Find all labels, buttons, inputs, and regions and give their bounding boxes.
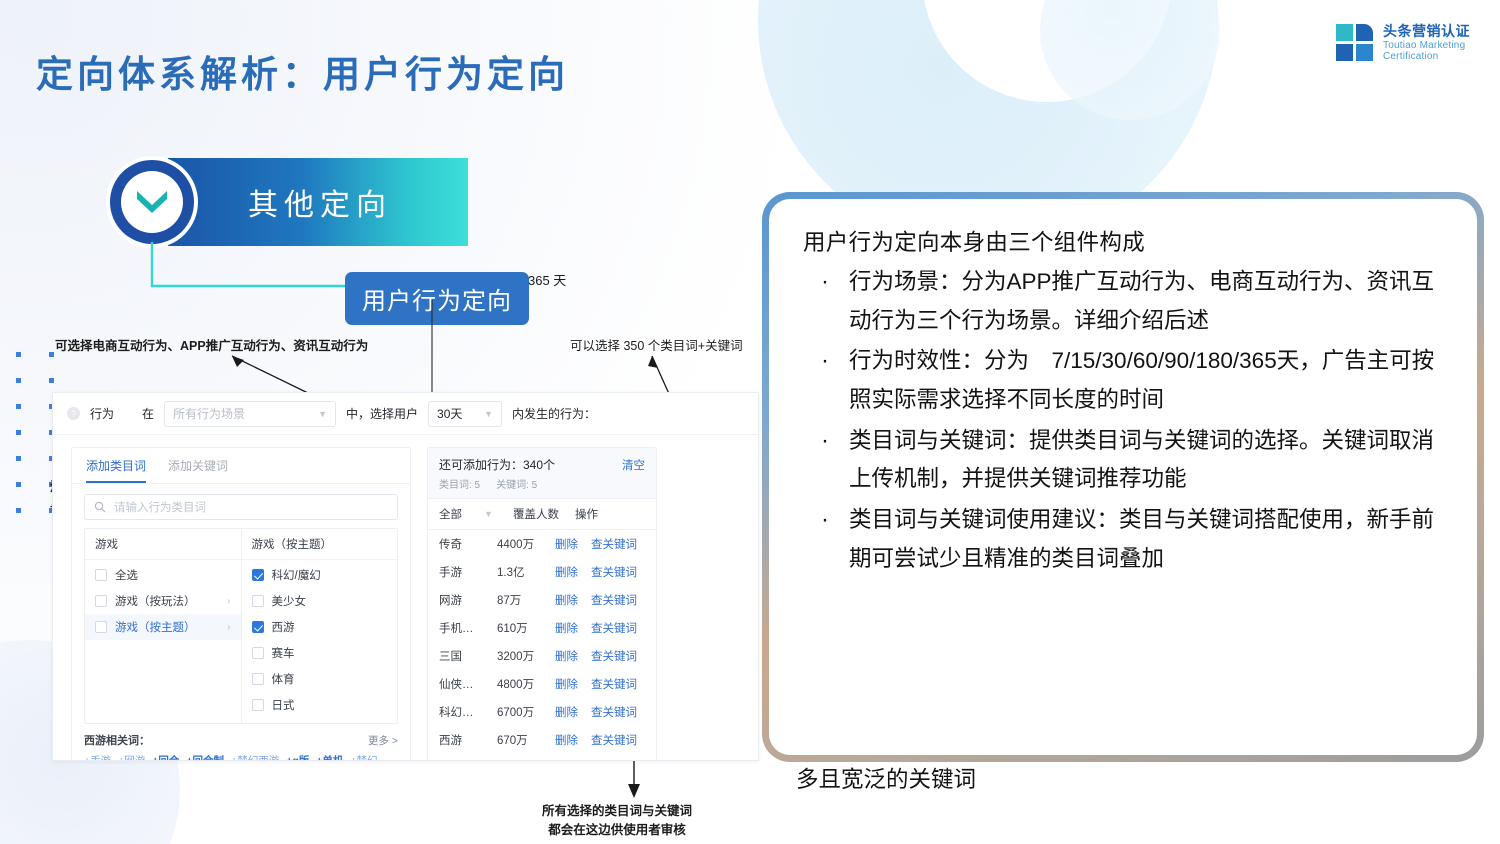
row-reach: 1.3亿 [497, 564, 555, 580]
category-column-left: 游戏 全选游戏（按玩法）›游戏（按主题）› [85, 529, 242, 723]
explanation-panel: 用户行为定向本身由三个组件构成 行为场景：分为APP推广互动行为、电商互动行为、… [762, 192, 1484, 762]
row-name: 网游 [439, 592, 497, 608]
category-column-right: 游戏（按主题） 科幻/魔幻美少女西游赛车体育日式 [242, 529, 398, 723]
table-row: 三国3200万删除查关键词 [428, 642, 656, 670]
explanation-bullet-list: 行为场景：分为APP推广互动行为、电商互动行为、资讯互动行为三个行为场景。详细介… [803, 263, 1447, 579]
option-label: 游戏（按主题） [115, 619, 196, 635]
count-keyword: 关键词: 5 [496, 476, 537, 491]
column-action: 操作 [575, 506, 598, 522]
row-view-keyword-link[interactable]: 查关键词 [591, 620, 637, 636]
decorative-dot-grid-left [16, 352, 54, 534]
days-select-value: 30天 [437, 405, 462, 422]
product-screenshot: ? 行为 在 所有行为场景 ▼ 中，选择用户 30天 ▼ 内发生的行为： 添加类… [52, 392, 759, 761]
explanation-lead: 用户行为定向本身由三个组件构成 [803, 225, 1447, 257]
search-row: 请输入行为类目词 [72, 484, 410, 528]
mid-label: 中，选择用户 [346, 405, 418, 422]
chevron-right-icon: › [227, 596, 230, 607]
explanation-overflow-line: 多且宽泛的关键词 [796, 762, 976, 794]
decorative-dot [16, 430, 21, 435]
selected-table-header: 全部 ▼ 覆盖人数 操作 [428, 499, 656, 530]
related-words-section: 西游相关词： 更多 > +手游+网游+回合+回合制+梦幻西游+q版+单机+梦幻 [72, 724, 410, 761]
row-delete-link[interactable]: 删除 [555, 676, 578, 692]
chevron-down-icon: ▼ [484, 409, 493, 419]
search-placeholder: 请输入行为类目词 [114, 499, 206, 515]
row-view-keyword-link[interactable]: 查关键词 [591, 704, 637, 720]
row-reach: 3200万 [497, 648, 555, 664]
theme-option[interactable]: 日式 [242, 692, 398, 718]
theme-option[interactable]: 体育 [242, 666, 398, 692]
option-label: 西游 [272, 619, 295, 635]
row-view-keyword-link[interactable]: 查关键词 [591, 676, 637, 692]
explanation-bullet: 类目词与关键词：提供类目词与关键词的选择。关键词取消上传机制，并提供关键词推荐功… [803, 422, 1447, 499]
decorative-circle-small [1040, 0, 1220, 120]
row-view-keyword-link[interactable]: 查关键词 [591, 564, 637, 580]
related-word-chip[interactable]: +单机 [316, 753, 343, 761]
days-select[interactable]: 30天 ▼ [428, 401, 502, 427]
related-words-title: 西游相关词： [84, 732, 150, 748]
related-word-chip[interactable]: +q版 [286, 753, 309, 761]
annotation-365-days: 365 天 [528, 272, 566, 291]
related-word-chip[interactable]: +回合 [152, 753, 179, 761]
table-row: 传奇4400万删除查关键词 [428, 530, 656, 558]
option-label: 日式 [272, 697, 295, 713]
annotation-quota: 可以选择 350 个类目词+关键词 [570, 337, 743, 355]
explanation-bullet: 类目词与关键词使用建议：类目与关键词搭配使用，新手前期可尝试少且精准的类目词叠加 [803, 501, 1447, 578]
row-reach: 87万 [497, 592, 555, 608]
related-words-list: +手游+网游+回合+回合制+梦幻西游+q版+单机+梦幻 [84, 753, 398, 761]
option-label: 赛车 [272, 645, 295, 661]
at-label: 在 [142, 405, 154, 422]
related-word-chip[interactable]: +梦幻西游 [231, 753, 279, 761]
row-name: 科幻… [439, 704, 497, 720]
page-title: 定向体系解析：用户行为定向 [36, 44, 569, 98]
decorative-dot [16, 378, 21, 383]
table-row: 手机…610万删除查关键词 [428, 614, 656, 642]
column-left-list: 全选游戏（按玩法）›游戏（按主题）› [85, 560, 241, 642]
row-delete-link[interactable]: 删除 [555, 620, 578, 636]
table-row: 手游1.3亿删除查关键词 [428, 558, 656, 586]
chevron-down-icon: ▼ [318, 409, 327, 419]
decorative-dot [16, 508, 21, 513]
chevron-down-icon[interactable]: ▼ [484, 509, 493, 519]
related-word-chip[interactable]: +梦幻 [350, 753, 377, 761]
logo-mark-icon [1336, 24, 1374, 62]
related-word-chip[interactable]: +网游 [118, 753, 145, 761]
logo-title-en-2: Certification [1383, 51, 1470, 62]
decorative-circle-white [922, 0, 1172, 102]
count-category: 类目词: 5 [439, 476, 480, 491]
row-name: 西游 [439, 732, 497, 748]
logo-title-en-1: Toutiao Marketing [1383, 40, 1470, 51]
row-delete-link[interactable]: 删除 [555, 536, 578, 552]
row-reach: 4800万 [497, 676, 555, 692]
scene-select[interactable]: 所有行为场景 ▼ [164, 401, 336, 427]
selected-table-body: 传奇4400万删除查关键词手游1.3亿删除查关键词网游87万删除查关键词手机…6… [428, 530, 656, 754]
brand-logo: 头条营销认证 Toutiao Marketing Certification [1336, 24, 1470, 62]
behavior-body: 添加类目词添加关键词 请输入行为类目词 游戏 全选游戏（按玩法）›游戏（按主题）… [53, 435, 758, 761]
row-view-keyword-link[interactable]: 查关键词 [591, 536, 637, 552]
related-word-chip[interactable]: +手游 [84, 753, 111, 761]
selected-items-card: 还可添加行为：340个 清空 类目词: 5 关键词: 5 全部 ▼ 覆盖人数 操… [427, 447, 657, 761]
related-words-more-link[interactable]: 更多 > [368, 733, 398, 748]
selected-quota-header: 还可添加行为：340个 清空 类目词: 5 关键词: 5 [428, 448, 656, 499]
chevron-down-icon [121, 171, 183, 233]
category-option[interactable]: 游戏（按玩法）› [85, 588, 241, 614]
row-delete-link[interactable]: 删除 [555, 564, 578, 580]
quota-text: 还可添加行为：340个 [439, 456, 555, 473]
section-banner-label: 其他定向 [248, 180, 392, 224]
checkbox[interactable] [252, 569, 264, 581]
question-icon[interactable]: ? [67, 407, 80, 420]
table-row: 网游87万删除查关键词 [428, 586, 656, 614]
behavior-filter-bar: ? 行为 在 所有行为场景 ▼ 中，选择用户 30天 ▼ 内发生的行为： [53, 393, 758, 435]
category-columns: 游戏 全选游戏（按玩法）›游戏（按主题）› 游戏（按主题） 科幻/魔幻美少女西游… [84, 528, 398, 724]
row-reach: 670万 [497, 732, 555, 748]
row-name: 三国 [439, 648, 497, 664]
theme-option[interactable]: 赛车 [242, 640, 398, 666]
row-delete-link[interactable]: 删除 [555, 592, 578, 608]
theme-option[interactable]: 科幻/魔幻 [242, 562, 398, 588]
row-name: 手机… [439, 620, 497, 636]
annotation-bottom-line-1: 所有选择的类目词与关键词 [542, 802, 692, 821]
row-delete-link[interactable]: 删除 [555, 648, 578, 664]
row-reach: 4400万 [497, 536, 555, 552]
decorative-dot [49, 378, 54, 383]
column-right-header: 游戏（按主题） [242, 529, 398, 560]
row-delete-link[interactable]: 删除 [555, 732, 578, 748]
decorative-dot [16, 482, 21, 487]
theme-option[interactable]: 西游 [242, 614, 398, 640]
category-option[interactable]: 游戏（按主题）› [85, 614, 241, 640]
search-input[interactable]: 请输入行为类目词 [84, 494, 398, 520]
row-delete-link[interactable]: 删除 [555, 704, 578, 720]
tab-0[interactable]: 添加类目词 [86, 457, 146, 483]
sub-section-pill: 用户行为定向 [345, 272, 529, 325]
tab-1[interactable]: 添加关键词 [168, 457, 228, 483]
row-name: 仙侠… [439, 676, 497, 692]
section-banner: 其他定向 [168, 158, 468, 246]
checkbox[interactable] [252, 673, 264, 685]
slide-canvas: 定向体系解析：用户行为定向 头条营销认证 Toutiao Marketing C… [0, 0, 1500, 844]
option-label: 体育 [272, 671, 295, 687]
annotation-scene: 可选择电商互动行为、APP推广互动行为、资讯互动行为 [55, 337, 368, 355]
search-icon [94, 501, 106, 513]
column-left-header: 游戏 [85, 529, 241, 560]
table-row: 西游670万删除查关键词 [428, 726, 656, 754]
option-label: 美少女 [272, 593, 307, 609]
table-row: 仙侠…4800万删除查关键词 [428, 670, 656, 698]
explanation-bullet: 行为场景：分为APP推广互动行为、电商互动行为、资讯互动行为三个行为场景。详细介… [803, 263, 1447, 340]
annotation-bottom-line-2: 都会在这边供使用者审核 [542, 821, 692, 840]
related-word-chip[interactable]: +回合制 [186, 753, 224, 761]
checkbox[interactable] [95, 621, 107, 633]
column-reach: 覆盖人数 [513, 506, 575, 522]
decorative-dot [16, 456, 21, 461]
explanation-bullet: 行为时效性：分为 7/15/30/60/90/180/365天，广告主可按照实际… [803, 342, 1447, 419]
row-view-keyword-link[interactable]: 查关键词 [591, 648, 637, 664]
behavior-label: 行为 [90, 405, 114, 422]
checkbox[interactable] [252, 699, 264, 711]
decorative-dot [16, 404, 21, 409]
column-right-list: 科幻/魔幻美少女西游赛车体育日式 [242, 560, 398, 720]
checkbox[interactable] [95, 569, 107, 581]
row-view-keyword-link[interactable]: 查关键词 [591, 732, 637, 748]
row-reach: 6700万 [497, 704, 555, 720]
option-label: 全选 [115, 567, 138, 583]
picker-tabs: 添加类目词添加关键词 [72, 448, 410, 484]
decorative-dot [16, 352, 21, 357]
table-row: 科幻…6700万删除查关键词 [428, 698, 656, 726]
checkbox[interactable] [252, 621, 264, 633]
scene-select-value: 所有行为场景 [173, 405, 245, 422]
checkbox[interactable] [252, 595, 264, 607]
row-name: 手游 [439, 564, 497, 580]
theme-option[interactable]: 美少女 [242, 588, 398, 614]
column-all-filter[interactable]: 全部 [439, 506, 462, 522]
checkbox[interactable] [95, 595, 107, 607]
section-badge [110, 160, 194, 244]
row-name: 传奇 [439, 536, 497, 552]
chevron-right-icon: › [227, 622, 230, 633]
row-view-keyword-link[interactable]: 查关键词 [591, 592, 637, 608]
clear-all-button[interactable]: 清空 [622, 457, 645, 473]
category-option[interactable]: 全选 [85, 562, 241, 588]
category-picker-card: 添加类目词添加关键词 请输入行为类目词 游戏 全选游戏（按玩法）›游戏（按主题）… [71, 447, 411, 761]
option-label: 游戏（按玩法） [115, 593, 196, 609]
decorative-dot [49, 352, 54, 357]
row-reach: 610万 [497, 620, 555, 636]
tail-label: 内发生的行为： [512, 405, 596, 422]
checkbox[interactable] [252, 647, 264, 659]
logo-title-cn: 头条营销认证 [1383, 24, 1470, 40]
annotation-bottom: 所有选择的类目词与关键词 都会在这边供使用者审核 [542, 802, 692, 840]
option-label: 科幻/魔幻 [272, 567, 321, 583]
